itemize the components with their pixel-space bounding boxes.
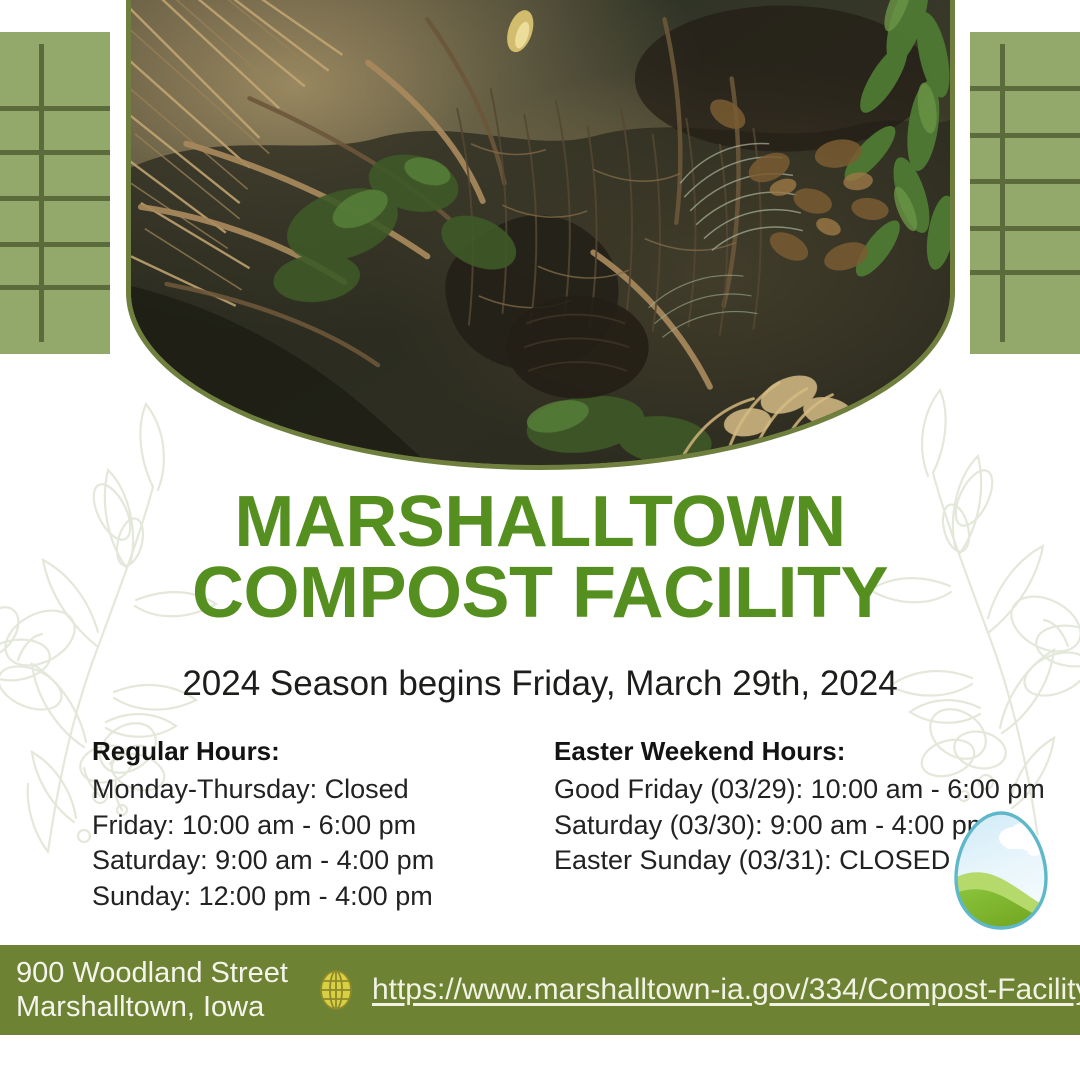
website-url-link[interactable]: https://www.marshalltown-ia.gov/334/Comp… [372,973,1080,1007]
grid-horizontal-line [970,226,1080,231]
grid-vertical-line [39,44,44,342]
poster-canvas: MARSHALLTOWN COMPOST FACILITY 2024 Seaso… [0,0,1080,1080]
title-line-2: COMPOST FACILITY [0,558,1080,629]
compost-pile-illustration [131,0,950,464]
easter-hours-heading: Easter Weekend Hours: [554,736,1045,767]
egg-logo [946,808,1056,933]
regular-hours-column: Regular Hours: Monday-Thursday: Closed F… [92,736,522,915]
easter-hours-item: Good Friday (03/29): 10:00 am - 6:00 pm [554,772,1045,808]
footer-bottom-strip [0,1035,1080,1080]
grid-horizontal-line [0,106,110,111]
grid-horizontal-line [970,86,1080,91]
grid-horizontal-line [0,285,110,290]
regular-hours-item: Monday-Thursday: Closed [92,772,522,808]
title-line-1: MARSHALLTOWN [0,487,1080,558]
photo-frame [126,0,955,470]
facility-address: 900 Woodland Street Marshalltown, Iowa [16,956,288,1024]
grid-horizontal-line [970,179,1080,184]
globe-icon [314,968,358,1012]
page-title: MARSHALLTOWN COMPOST FACILITY [0,487,1080,628]
address-line-2: Marshalltown, Iowa [16,990,288,1024]
season-subtitle: 2024 Season begins Friday, March 29th, 2… [0,664,1080,704]
address-line-1: 900 Woodland Street [16,956,288,990]
footer-bar: 900 Woodland Street Marshalltown, Iowa h… [0,945,1080,1035]
decorative-grid-panel-left [0,32,110,354]
regular-hours-item: Friday: 10:00 am - 6:00 pm [92,808,522,844]
regular-hours-item: Sunday: 12:00 pm - 4:00 pm [92,879,522,915]
decorative-grid-panel-right [970,32,1080,354]
hours-section: Regular Hours: Monday-Thursday: Closed F… [92,736,1040,915]
regular-hours-heading: Regular Hours: [92,736,522,767]
grid-horizontal-line [970,270,1080,275]
compost-pile-photo [131,0,950,465]
grid-horizontal-line [0,196,110,201]
grid-horizontal-line [0,150,110,155]
regular-hours-item: Saturday: 9:00 am - 4:00 pm [92,843,522,879]
grid-horizontal-line [970,133,1080,138]
grid-horizontal-line [0,242,110,247]
